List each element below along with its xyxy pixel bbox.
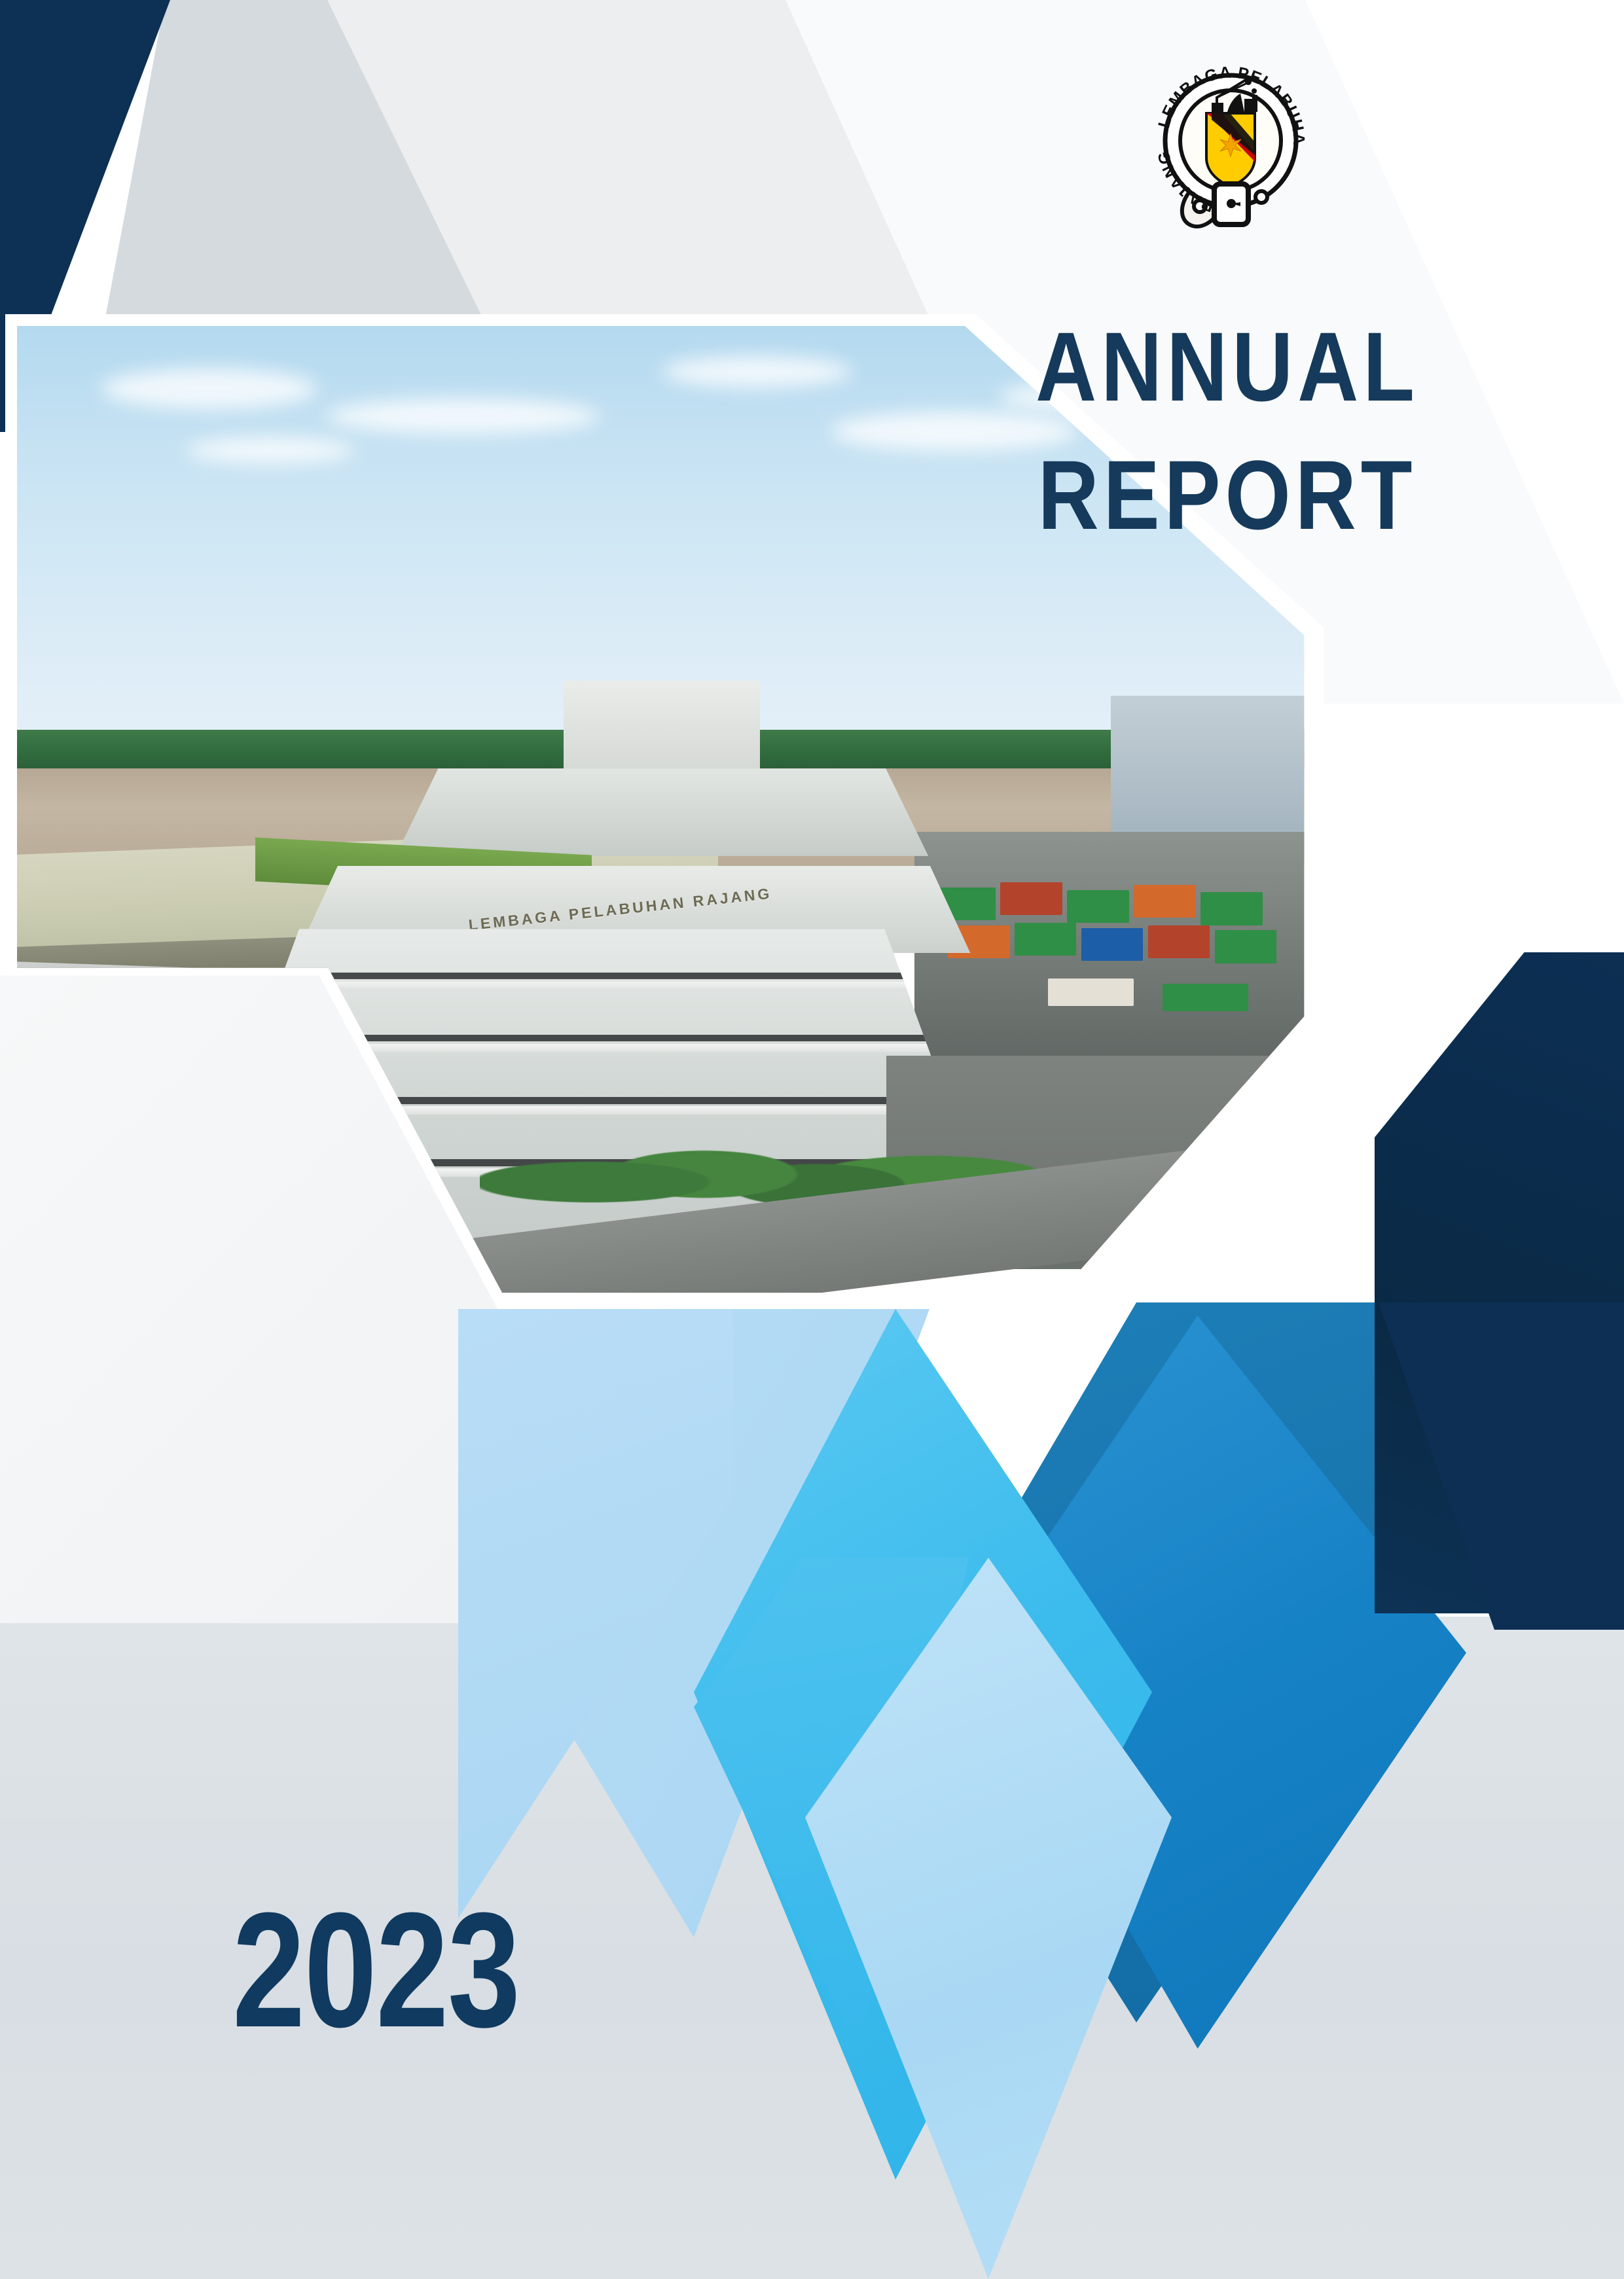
annual-report-cover: LEMBAGA PELABUHAN RAJANG bbox=[0, 0, 1624, 2279]
cover-title: ANNUAL REPORT bbox=[949, 317, 1506, 544]
photo-building-upper-roof bbox=[395, 768, 928, 856]
title-line-report: REPORT bbox=[988, 446, 1467, 544]
cloud-icon bbox=[662, 356, 852, 387]
cloud-icon bbox=[101, 368, 317, 409]
cover-year: 2023 bbox=[232, 1888, 520, 2052]
cloud-icon bbox=[325, 399, 600, 434]
lembaga-pelabuhan-rajang-seal: LEMBAGA PELABUHAN RAJANG bbox=[1149, 43, 1312, 232]
cloud-icon bbox=[185, 437, 355, 463]
title-line-annual: ANNUAL bbox=[988, 317, 1467, 416]
photo-building-tower bbox=[564, 681, 760, 778]
